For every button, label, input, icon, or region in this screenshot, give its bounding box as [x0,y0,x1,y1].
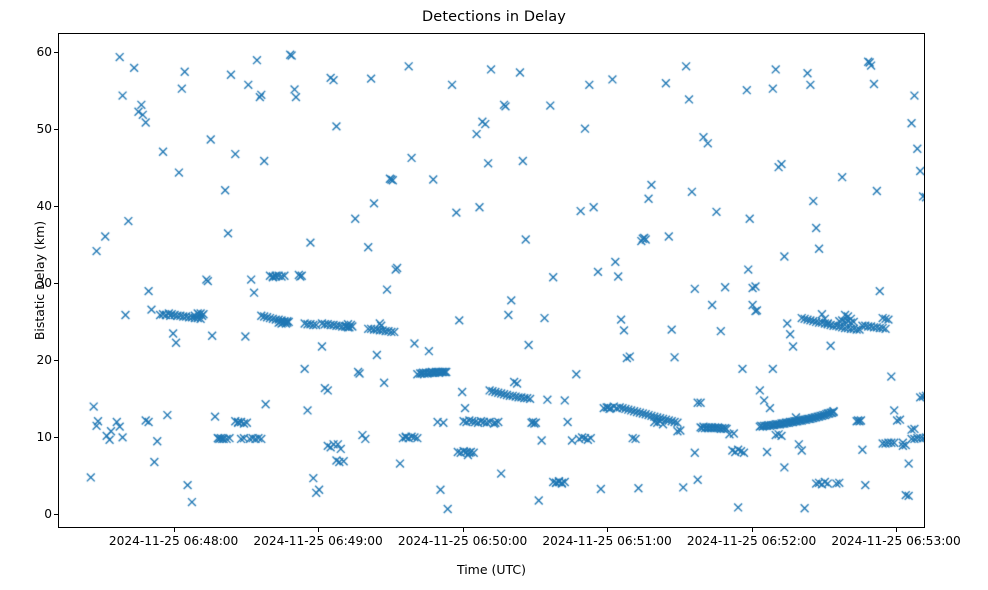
y-tick-mark [54,283,58,284]
chart-title: Detections in Delay [0,9,988,25]
x-tick-label: 2024-11-25 06:49:00 [253,534,382,548]
y-tick-mark [54,360,58,361]
x-tick-mark [896,528,897,532]
y-tick-mark [54,206,58,207]
x-tick-label: 2024-11-25 06:51:00 [542,534,671,548]
y-tick-mark [54,437,58,438]
x-tick-mark [752,528,753,532]
x-tick-mark [607,528,608,532]
y-tick-mark [54,514,58,515]
x-tick-label: 2024-11-25 06:50:00 [398,534,527,548]
x-tick-label: 2024-11-25 06:48:00 [109,534,238,548]
y-axis-label: Bistatic Delay (km) [32,33,47,528]
x-tick-label: 2024-11-25 06:52:00 [687,534,816,548]
figure: Detections in Delay Bistatic Delay (km) … [0,0,988,590]
y-tick-mark [54,129,58,130]
scatter-plot-canvas [59,34,925,528]
x-tick-mark [463,528,464,532]
plot-axes [58,33,925,528]
x-tick-mark [318,528,319,532]
x-axis-label: Time (UTC) [58,562,925,577]
x-tick-mark [174,528,175,532]
y-tick-mark [54,52,58,53]
x-tick-label: 2024-11-25 06:53:00 [831,534,960,548]
